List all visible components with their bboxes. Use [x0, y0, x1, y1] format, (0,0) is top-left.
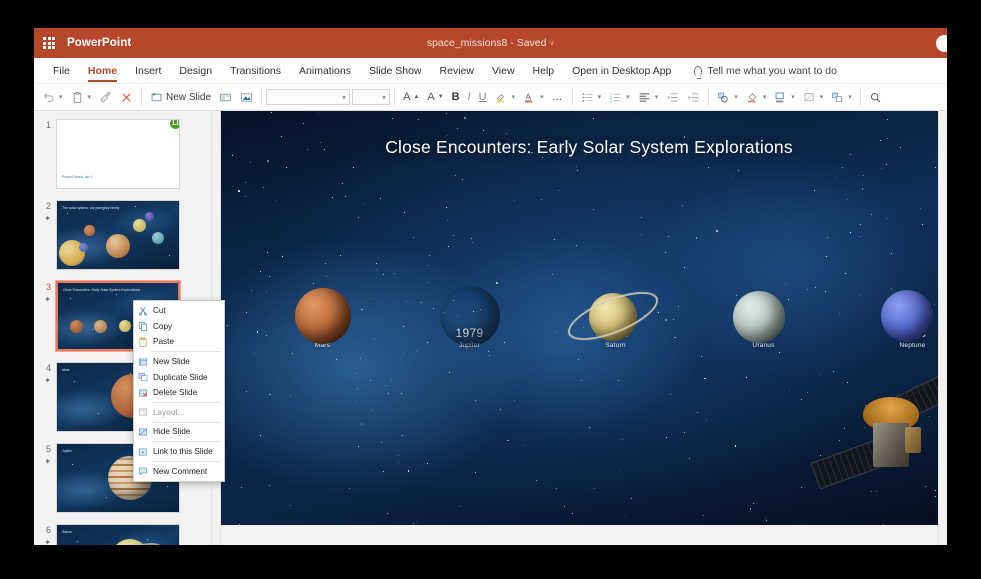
thumbnail-title: Saturn	[62, 530, 174, 535]
more-options-button[interactable]: …	[548, 86, 568, 109]
animation-star-icon: ✦	[38, 294, 51, 305]
tab-view[interactable]: View	[483, 58, 524, 84]
divider	[394, 89, 395, 106]
tab-animations[interactable]: Animations	[290, 58, 360, 84]
title-bar: PowerPoint space_missions8 - Saved˅	[34, 28, 947, 58]
increase-indent-button[interactable]	[683, 86, 704, 109]
svg-text:3: 3	[610, 99, 612, 103]
tell-me-search[interactable]: Tell me what you want to do	[694, 65, 837, 77]
document-title-text: space_missions8 - Saved	[427, 37, 547, 49]
numbering-button[interactable]: 123 ▾	[605, 86, 634, 109]
chevron-down-icon[interactable]: ▾	[734, 93, 738, 101]
tab-transitions[interactable]: Transitions	[221, 58, 290, 84]
ribbon-toolbar: ▾ ▾ New Slide ▾ ▾ A▲ A▼	[34, 84, 947, 111]
italic-button[interactable]: I	[464, 86, 475, 109]
copy-icon	[137, 321, 148, 332]
context-menu-label: Layout...	[153, 408, 184, 417]
chevron-down-icon[interactable]: ▾	[626, 93, 630, 101]
context-menu-label: Hide Slide	[153, 427, 190, 436]
thumbnail-number: 6 ✦	[38, 524, 56, 545]
divider	[860, 89, 861, 106]
app-launcher-icon[interactable]	[34, 28, 64, 58]
chevron-down-icon[interactable]: ▾	[791, 93, 795, 101]
timeline-name: Neptune	[875, 342, 947, 349]
tab-design[interactable]: Design	[170, 58, 221, 84]
layout-button[interactable]	[215, 86, 236, 109]
context-menu-label: Paste	[153, 337, 174, 346]
format-painter-button[interactable]	[95, 86, 116, 109]
thumbnail-slide-6[interactable]: 6 ✦ Saturn	[34, 524, 211, 545]
thumbnail-number: 1	[38, 119, 56, 131]
new-slide-label: New Slide	[166, 92, 211, 103]
timeline-name: Saturn	[578, 342, 653, 349]
tab-review[interactable]: Review	[431, 58, 483, 84]
paste-button[interactable]: ▾	[67, 86, 96, 109]
context-menu-item-copy[interactable]: Copy	[134, 319, 224, 335]
new-slide-icon	[137, 356, 148, 367]
animation-star-icon: ✦	[38, 213, 51, 224]
context-menu-label: New Slide	[153, 357, 190, 366]
divider	[141, 89, 142, 106]
app-name: PowerPoint	[67, 37, 131, 49]
chevron-down-icon[interactable]: ▾	[88, 93, 92, 101]
thumbnail-slide-2[interactable]: 2 ✦ The solar	[34, 200, 211, 270]
menu-bar: File Home Insert Design Transitions Anim…	[34, 58, 947, 84]
animation-star-icon: ✦	[38, 537, 51, 545]
context-menu-item-delete-slide[interactable]: Delete Slide	[134, 385, 224, 401]
thumbnail-preview[interactable]: Saturn	[56, 524, 180, 545]
document-title[interactable]: space_missions8 - Saved˅	[34, 37, 947, 49]
thumbnail-number: 4 ✦	[38, 362, 56, 386]
divider	[261, 89, 262, 106]
shape-outline-button[interactable]: ▾	[770, 86, 799, 109]
font-color-button[interactable]: A ▾	[519, 86, 548, 109]
tab-home[interactable]: Home	[79, 58, 126, 84]
thumbnail-number: 2 ✦	[38, 200, 56, 224]
planet-uranus[interactable]	[733, 291, 785, 343]
thumbnail-title: Project Nexus Jan 1	[62, 175, 174, 180]
planet-neptune[interactable]	[881, 290, 933, 342]
undo-button[interactable]: ▾	[38, 86, 67, 109]
editor-body: 1 Project Nexus Jan 1 LI 2 ✦	[34, 111, 947, 545]
context-menu-label: Delete Slide	[153, 388, 197, 397]
tab-slide-show[interactable]: Slide Show	[360, 58, 431, 84]
layout-icon	[137, 407, 148, 418]
delete-button[interactable]	[116, 86, 137, 109]
tell-me-label: Tell me what you want to do	[707, 65, 837, 77]
decrease-indent-button[interactable]	[662, 86, 683, 109]
bullets-button[interactable]: ▾	[577, 86, 606, 109]
font-family-select[interactable]: ▾	[266, 89, 350, 105]
shape-fill-button[interactable]: ▾	[742, 86, 771, 109]
context-menu-label: Link to this Slide	[153, 447, 213, 456]
lightbulb-icon	[694, 66, 702, 76]
context-menu-item-hide-slide[interactable]: Hide Slide	[134, 424, 224, 440]
link-icon	[137, 446, 148, 457]
presence-badge[interactable]: LI	[169, 119, 180, 130]
slide-canvas-area: Close Encounters: Early Solar System Exp…	[221, 111, 947, 545]
context-menu-item-new-slide[interactable]: New Slide	[134, 354, 224, 370]
planet-jupiter[interactable]	[440, 286, 500, 346]
powerpoint-window: PowerPoint space_missions8 - Saved˅ File…	[34, 28, 947, 545]
hide-slide-icon	[137, 426, 148, 437]
thumbnail-slide-1[interactable]: 1 Project Nexus Jan 1 LI	[34, 119, 211, 189]
context-menu-label: Duplicate Slide	[153, 373, 208, 382]
thumbnail-title: Close Encounters: Early Solar System Exp…	[63, 288, 173, 293]
thumbnail-number: 3 ✦	[38, 281, 56, 305]
divider	[708, 89, 709, 106]
context-menu-label: New Comment	[153, 467, 207, 476]
delete-slide-icon	[137, 387, 148, 398]
timeline-name: Uranus	[726, 342, 801, 349]
arrange-button[interactable]: ▾	[827, 86, 856, 109]
thumbnail-preview[interactable]: Project Nexus Jan 1 LI	[56, 119, 180, 189]
context-menu-divider	[151, 422, 221, 423]
context-menu-item-new-comment[interactable]: New Comment	[134, 463, 224, 479]
text-highlight-button[interactable]: ▾	[491, 86, 520, 109]
context-menu-divider	[151, 461, 221, 462]
slide-context-menu[interactable]: Cut Copy Paste New Slide	[133, 300, 225, 482]
context-menu-divider	[151, 351, 221, 352]
context-menu-item-paste[interactable]: Paste	[134, 334, 224, 350]
canvas-scrollbar[interactable]	[938, 111, 947, 545]
context-menu-label: Copy	[153, 322, 172, 331]
chevron-down-icon[interactable]: ▾	[820, 93, 824, 101]
grow-font-button[interactable]: A▲	[399, 86, 423, 109]
paste-icon	[137, 336, 148, 347]
duplicate-slide-icon	[137, 372, 148, 383]
animation-star-icon: ✦	[38, 456, 51, 467]
shapes-button[interactable]: ▾	[713, 86, 742, 109]
chevron-down-icon[interactable]: ▾	[763, 93, 767, 101]
shape-effects-button[interactable]: ▾	[799, 86, 828, 109]
animation-star-icon: ✦	[38, 375, 51, 386]
tab-file[interactable]: File	[44, 58, 79, 84]
slide-title[interactable]: Close Encounters: Early Solar System Exp…	[221, 137, 947, 158]
context-menu-label: Cut	[153, 306, 166, 315]
screen-frame: PowerPoint space_missions8 - Saved˅ File…	[0, 0, 981, 579]
spacecraft-graphic[interactable]	[821, 379, 947, 525]
context-menu-item-duplicate-slide[interactable]: Duplicate Slide	[134, 369, 224, 385]
divider	[572, 89, 573, 106]
account-avatar[interactable]	[936, 35, 947, 52]
planet-mars[interactable]	[295, 288, 351, 344]
cut-icon	[137, 305, 148, 316]
tab-help[interactable]: Help	[524, 58, 564, 84]
chevron-down-icon[interactable]: ▾	[598, 93, 602, 101]
chevron-down-icon[interactable]: ▾	[655, 93, 659, 101]
chevron-down-icon[interactable]: ▾	[59, 93, 63, 101]
context-menu-item-cut[interactable]: Cut	[134, 303, 224, 319]
chevron-down-icon: ˅	[549, 39, 554, 48]
svg-text:A: A	[526, 92, 532, 101]
search-button[interactable]	[865, 86, 886, 109]
open-in-desktop-app-button[interactable]: Open in Desktop App	[563, 58, 680, 84]
bold-button[interactable]: B	[448, 86, 464, 109]
thumbnail-title: The solar system: our planetary family	[62, 206, 174, 211]
underline-button[interactable]: U	[475, 86, 491, 109]
chevron-down-icon[interactable]: ▾	[540, 93, 544, 101]
shrink-font-button[interactable]: A▼	[423, 86, 447, 109]
slide-canvas[interactable]: Close Encounters: Early Solar System Exp…	[221, 111, 947, 525]
chevron-down-icon[interactable]: ▾	[848, 93, 852, 101]
comment-icon	[137, 466, 148, 477]
context-menu-divider	[151, 441, 221, 442]
new-slide-button[interactable]: New Slide	[146, 86, 215, 109]
thumbnail-preview[interactable]: The solar system: our planetary family	[56, 200, 180, 270]
thumbnail-number: 5 ✦	[38, 443, 56, 467]
context-menu-item-link-to-this-slide[interactable]: Link to this Slide	[134, 444, 224, 460]
context-menu-divider	[151, 402, 221, 403]
context-menu-item-layout[interactable]: Layout...	[134, 405, 224, 421]
tab-insert[interactable]: Insert	[126, 58, 170, 84]
font-size-select[interactable]: ▾	[352, 89, 390, 105]
reuse-slides-button[interactable]	[236, 86, 257, 109]
chevron-down-icon[interactable]: ▾	[512, 93, 516, 101]
align-button[interactable]: ▾	[634, 86, 663, 109]
